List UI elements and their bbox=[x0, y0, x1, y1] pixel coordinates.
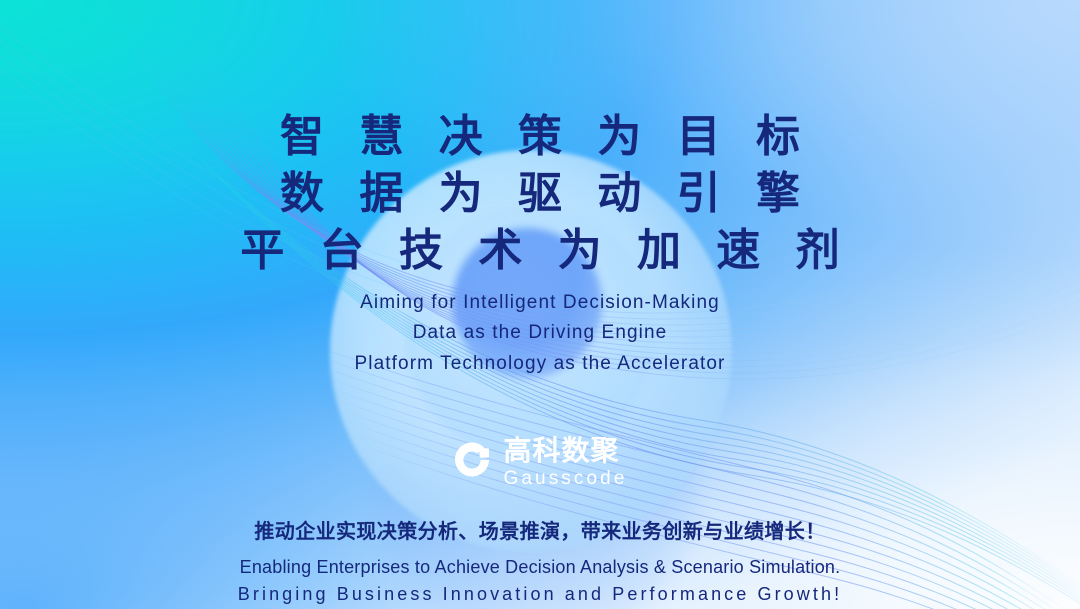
subheadline-en: Aiming for Intelligent Decision-Making D… bbox=[355, 288, 726, 380]
tagline-en-line-2: Bringing Business Innovation and Perform… bbox=[238, 581, 842, 608]
tagline-en-line-1: Enabling Enterprises to Achieve Decision… bbox=[238, 554, 842, 581]
subheadline-line-1: Aiming for Intelligent Decision-Making bbox=[355, 288, 726, 319]
promo-banner: 智 慧 决 策 为 目 标 数 据 为 驱 动 引 擎 平 台 技 术 为 加 … bbox=[0, 0, 1080, 609]
gausscode-logo-mark-icon bbox=[452, 440, 492, 480]
tagline-en: Enabling Enterprises to Achieve Decision… bbox=[238, 554, 842, 609]
subheadline-line-2: Data as the Driving Engine bbox=[355, 318, 726, 349]
brand-name-cn: 高科数聚 bbox=[503, 436, 619, 465]
brand-logo-text: 高科数聚 Gausscode bbox=[503, 436, 627, 491]
brand-name-en: Gausscode bbox=[503, 467, 627, 491]
headline-line-2: 数 据 为 驱 动 引 擎 bbox=[230, 165, 849, 222]
headline-cn: 智 慧 决 策 为 目 标 数 据 为 驱 动 引 擎 平 台 技 术 为 加 … bbox=[230, 108, 849, 280]
tagline-cn: 推动企业实现决策分析、场景推演，带来业务创新与业绩增长！ bbox=[254, 518, 825, 545]
brand-logo-lockup: 高科数聚 Gausscode bbox=[452, 436, 627, 491]
headline-line-3: 平 台 技 术 为 加 速 剂 bbox=[230, 222, 849, 279]
headline-line-1: 智 慧 决 策 为 目 标 bbox=[230, 108, 849, 165]
subheadline-line-3: Platform Technology as the Accelerator bbox=[355, 349, 726, 380]
banner-content: 智 慧 决 策 为 目 标 数 据 为 驱 动 引 擎 平 台 技 术 为 加 … bbox=[0, 0, 1080, 609]
